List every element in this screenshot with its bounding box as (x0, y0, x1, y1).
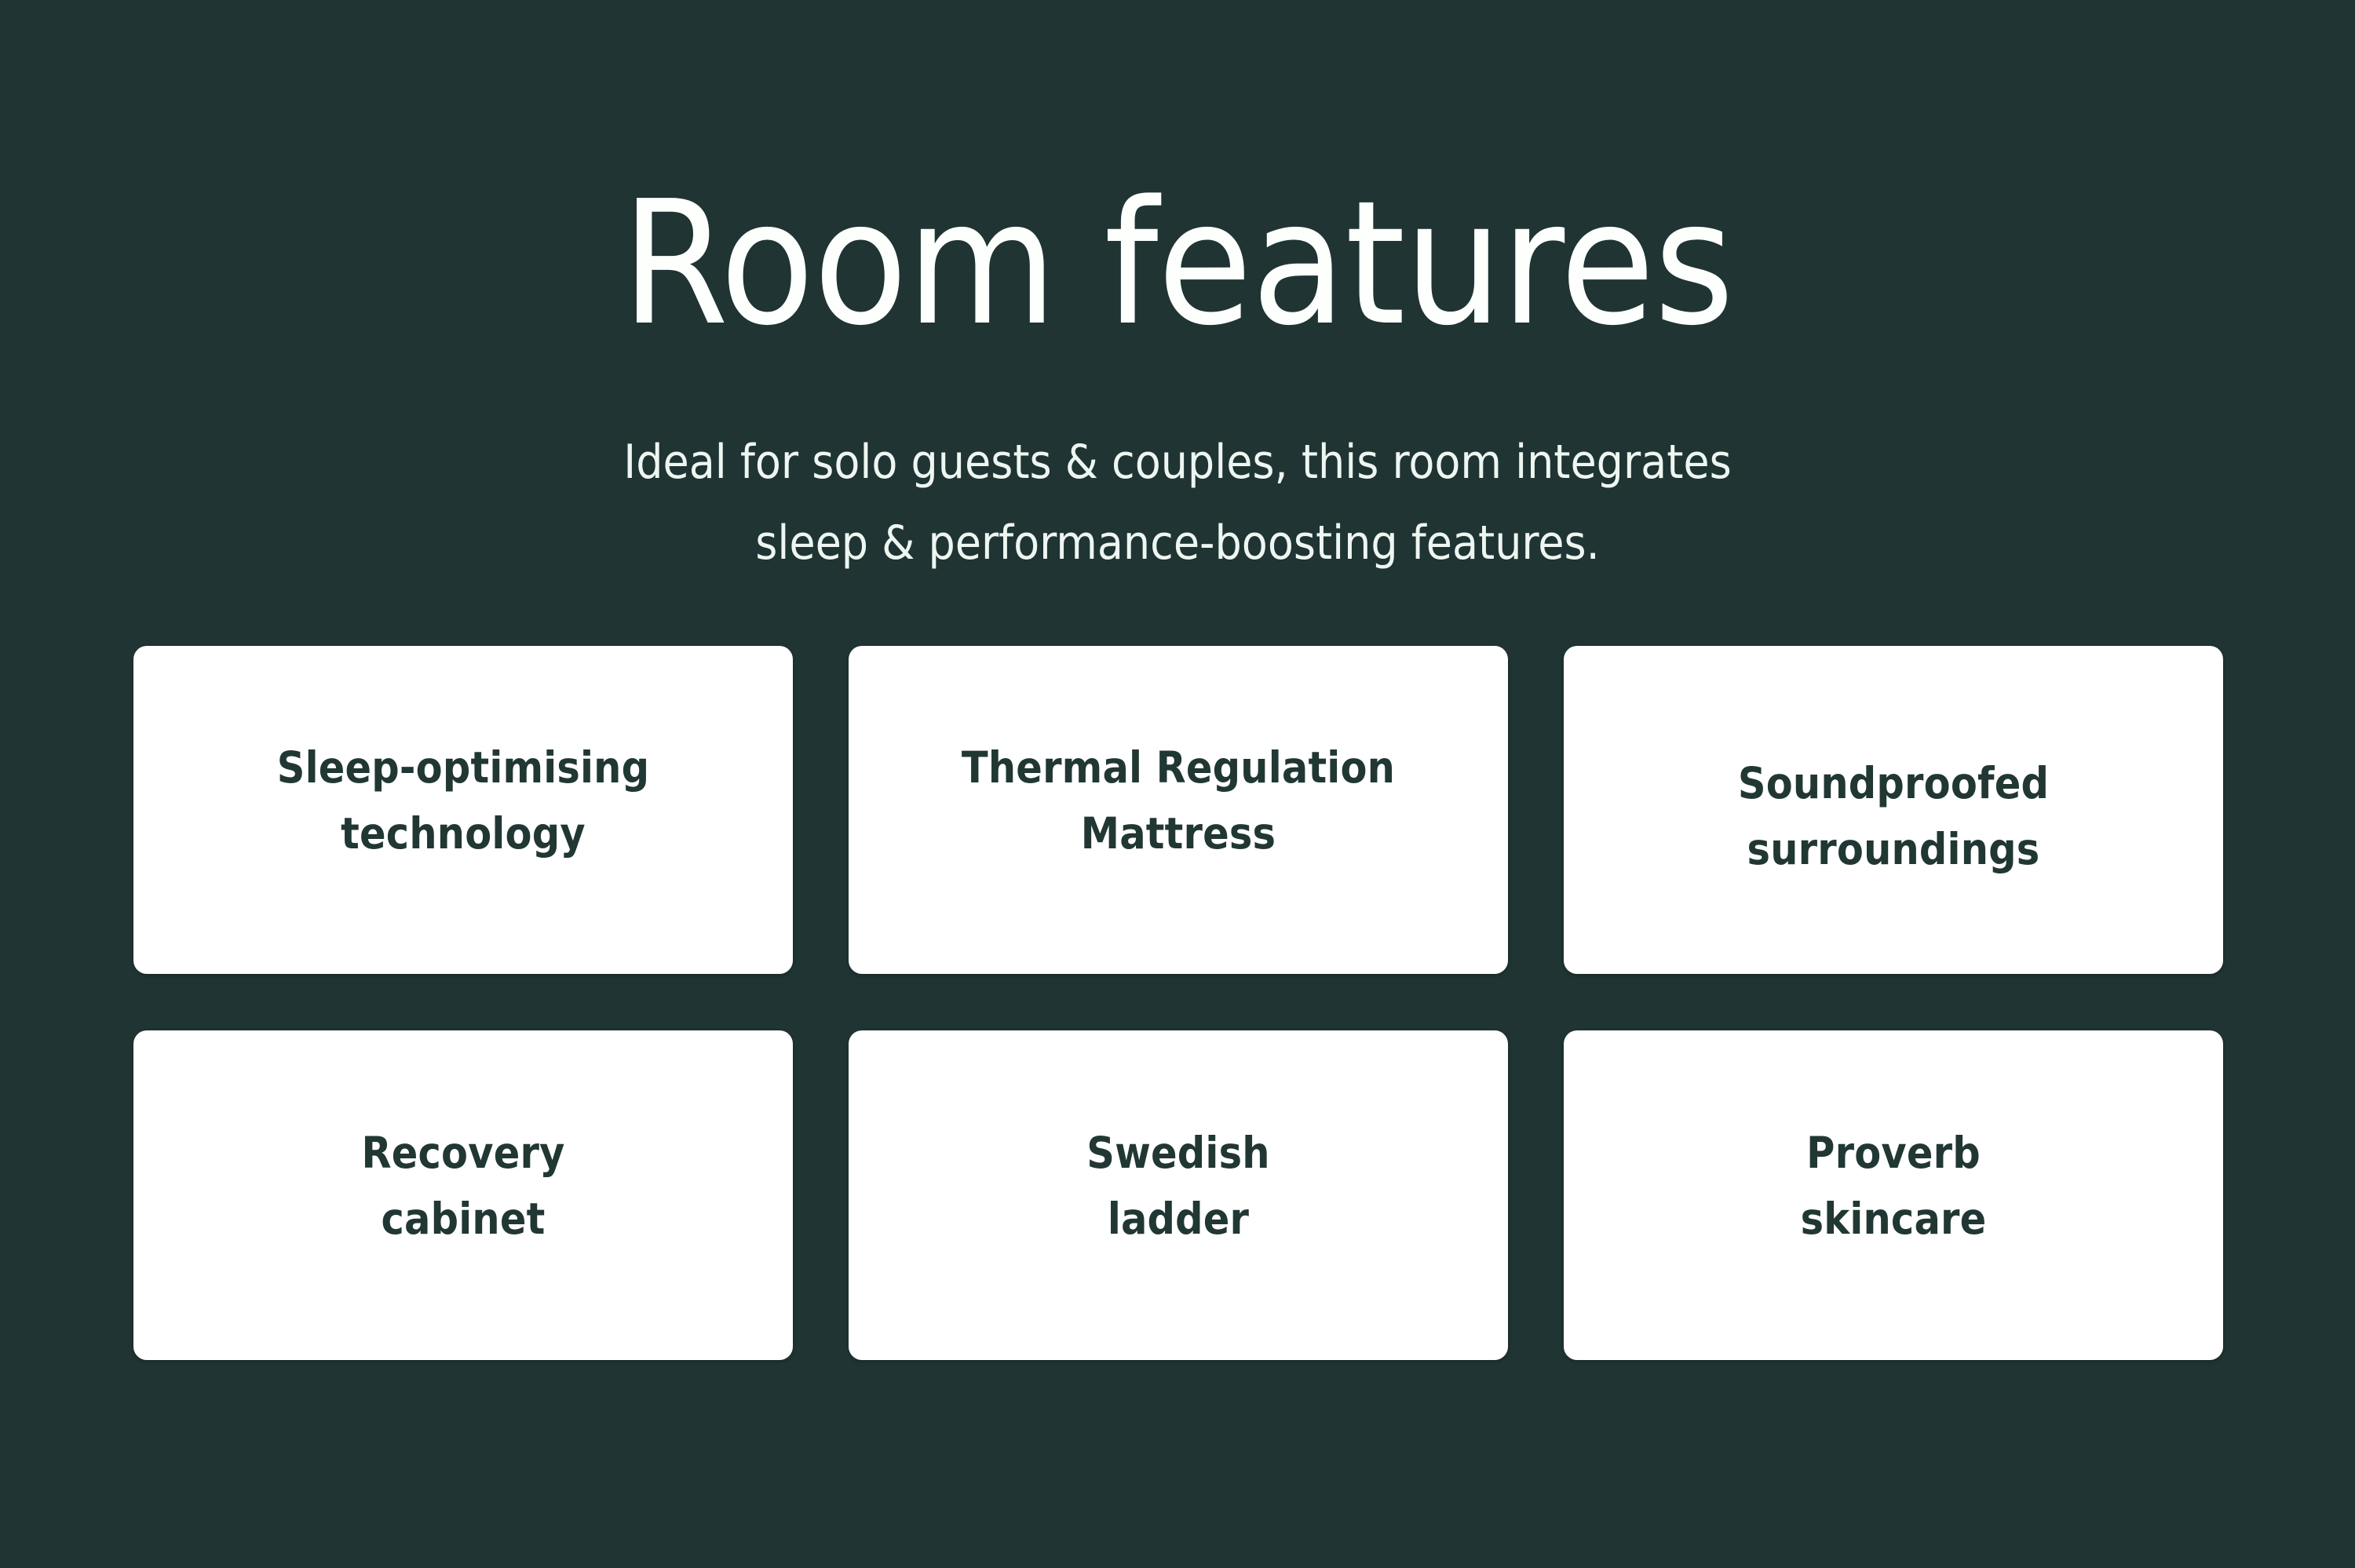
feature-card-label: Proverb skincare (1801, 1121, 1987, 1252)
page-subtitle-line-2: sleep & performance-boosting features. (0, 503, 2355, 584)
feature-label-line-1: Recovery (361, 1121, 564, 1187)
feature-label-line-2: surroundings (1738, 817, 2049, 883)
feature-card-grid: Sleep-optimising technology Thermal Regu… (133, 646, 2223, 1360)
feature-card-soundproofed-surroundings[interactable]: Soundproofed surroundings (1564, 646, 2223, 974)
feature-card-swedish-ladder[interactable]: Swedish ladder (849, 1030, 1508, 1360)
feature-label-line-2: skincare (1801, 1187, 1987, 1253)
page-subtitle-line-1: Ideal for solo guests & couples, this ro… (0, 422, 2355, 503)
page-subtitle: Ideal for solo guests & couples, this ro… (0, 422, 2355, 584)
feature-card-proverb-skincare[interactable]: Proverb skincare (1564, 1030, 2223, 1360)
feature-card-label: Recovery cabinet (361, 1121, 564, 1252)
room-features-slide: Room features Ideal for solo guests & co… (0, 0, 2355, 1568)
feature-label-line-1: Thermal Regulation (962, 735, 1395, 801)
feature-label-line-2: technology (277, 801, 650, 867)
feature-label-line-1: Swedish (1086, 1121, 1269, 1187)
feature-label-line-2: cabinet (361, 1187, 564, 1253)
feature-label-line-1: Sleep-optimising (277, 735, 650, 801)
feature-label-line-1: Soundproofed (1738, 751, 2049, 817)
feature-card-recovery-cabinet[interactable]: Recovery cabinet (133, 1030, 793, 1360)
feature-label-line-1: Proverb (1801, 1121, 1987, 1187)
feature-card-sleep-optimising-technology[interactable]: Sleep-optimising technology (133, 646, 793, 974)
page-title: Room features (0, 179, 2355, 350)
feature-card-label: Sleep-optimising technology (277, 735, 650, 866)
feature-card-label: Swedish ladder (1086, 1121, 1269, 1252)
feature-label-line-2: ladder (1086, 1187, 1269, 1253)
feature-label-line-2: Mattress (962, 801, 1395, 867)
feature-card-thermal-regulation-mattress[interactable]: Thermal Regulation Mattress (849, 646, 1508, 974)
feature-card-label: Soundproofed surroundings (1738, 751, 2049, 882)
feature-card-label: Thermal Regulation Mattress (962, 735, 1395, 866)
